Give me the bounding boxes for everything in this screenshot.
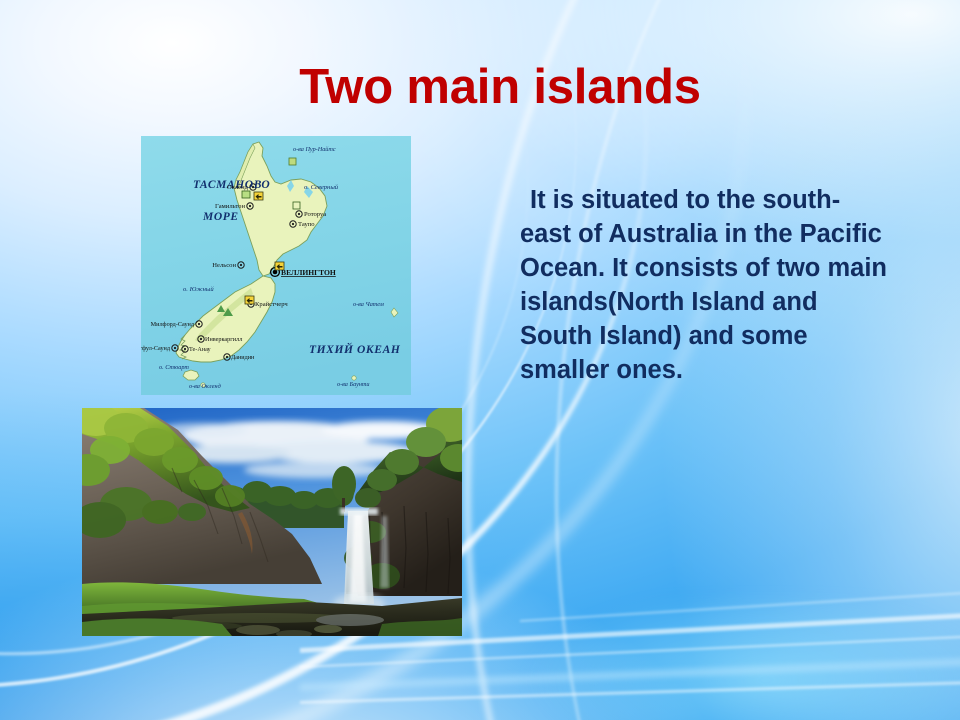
map-offshore-label-3: о-ва Окленд (189, 383, 221, 390)
background-band-4 (300, 680, 960, 704)
map-city-label-taupo: Таупо (298, 221, 315, 228)
background-band-2 (300, 633, 960, 668)
background-glow-bottom-right (430, 600, 960, 720)
map-offshore-label-0: о-ва Пур-Найтс (293, 146, 336, 153)
map-sea-label-2: ТИХИЙ ОКЕАН (309, 341, 401, 356)
new-zealand-map-image: ТАСМАНОВО МОРЕ ТИХИЙ ОКЕАН о. Северный о… (141, 136, 411, 395)
map-island-label-0: о. Северный (304, 184, 339, 191)
background-band-5 (520, 589, 960, 622)
waterfall-lip (340, 508, 378, 515)
map-offshore-label-1: о-ва Чатем (353, 301, 384, 308)
map-city-label-dunedin: Данидин (231, 354, 255, 361)
map-city-label-rotorua: Роторуа (304, 211, 326, 218)
map-city-label-wellington: ВЕЛЛИНГТОН (281, 268, 336, 277)
map-city-label-hamilton: Гамильтон (215, 203, 245, 210)
slide-body-text: It is situated to the south-east of Aust… (520, 184, 890, 387)
map-island-label-1: о. Южный (183, 286, 214, 293)
presentation-slide: Two main islands (0, 0, 960, 720)
map-city-label-auckland: Окленд (227, 184, 249, 191)
map-sea-label-1: МОРЕ (202, 211, 239, 223)
waterfall-photo-graphic (82, 408, 462, 636)
map-city-label-te-anau: Те-Анау (189, 346, 212, 353)
background-band-3 (300, 656, 960, 691)
map-island-label-2: о. Стюарт (159, 364, 189, 371)
waterfall-photo (82, 408, 462, 636)
new-zealand-map-graphic: ТАСМАНОВО МОРЕ ТИХИЙ ОКЕАН о. Северный о… (141, 136, 411, 395)
map-offshore-label-2: о-ва Баунти (337, 381, 369, 388)
map-city-label-christchurch: Крайстчерч (255, 301, 288, 308)
map-city-label-milford-sound: Милфорд-Саунд (151, 321, 195, 328)
map-city-label-invercargill: Инверкаргилл (205, 336, 242, 343)
slide-title: Two main islands (150, 62, 850, 113)
bounty-islands-marker (352, 376, 356, 380)
map-city-label-doubtful-sound: Даутфул-Саунд (141, 345, 171, 352)
poor-knights-islands-marker (289, 158, 296, 165)
map-city-label-nelson: Нельсон (212, 262, 236, 269)
